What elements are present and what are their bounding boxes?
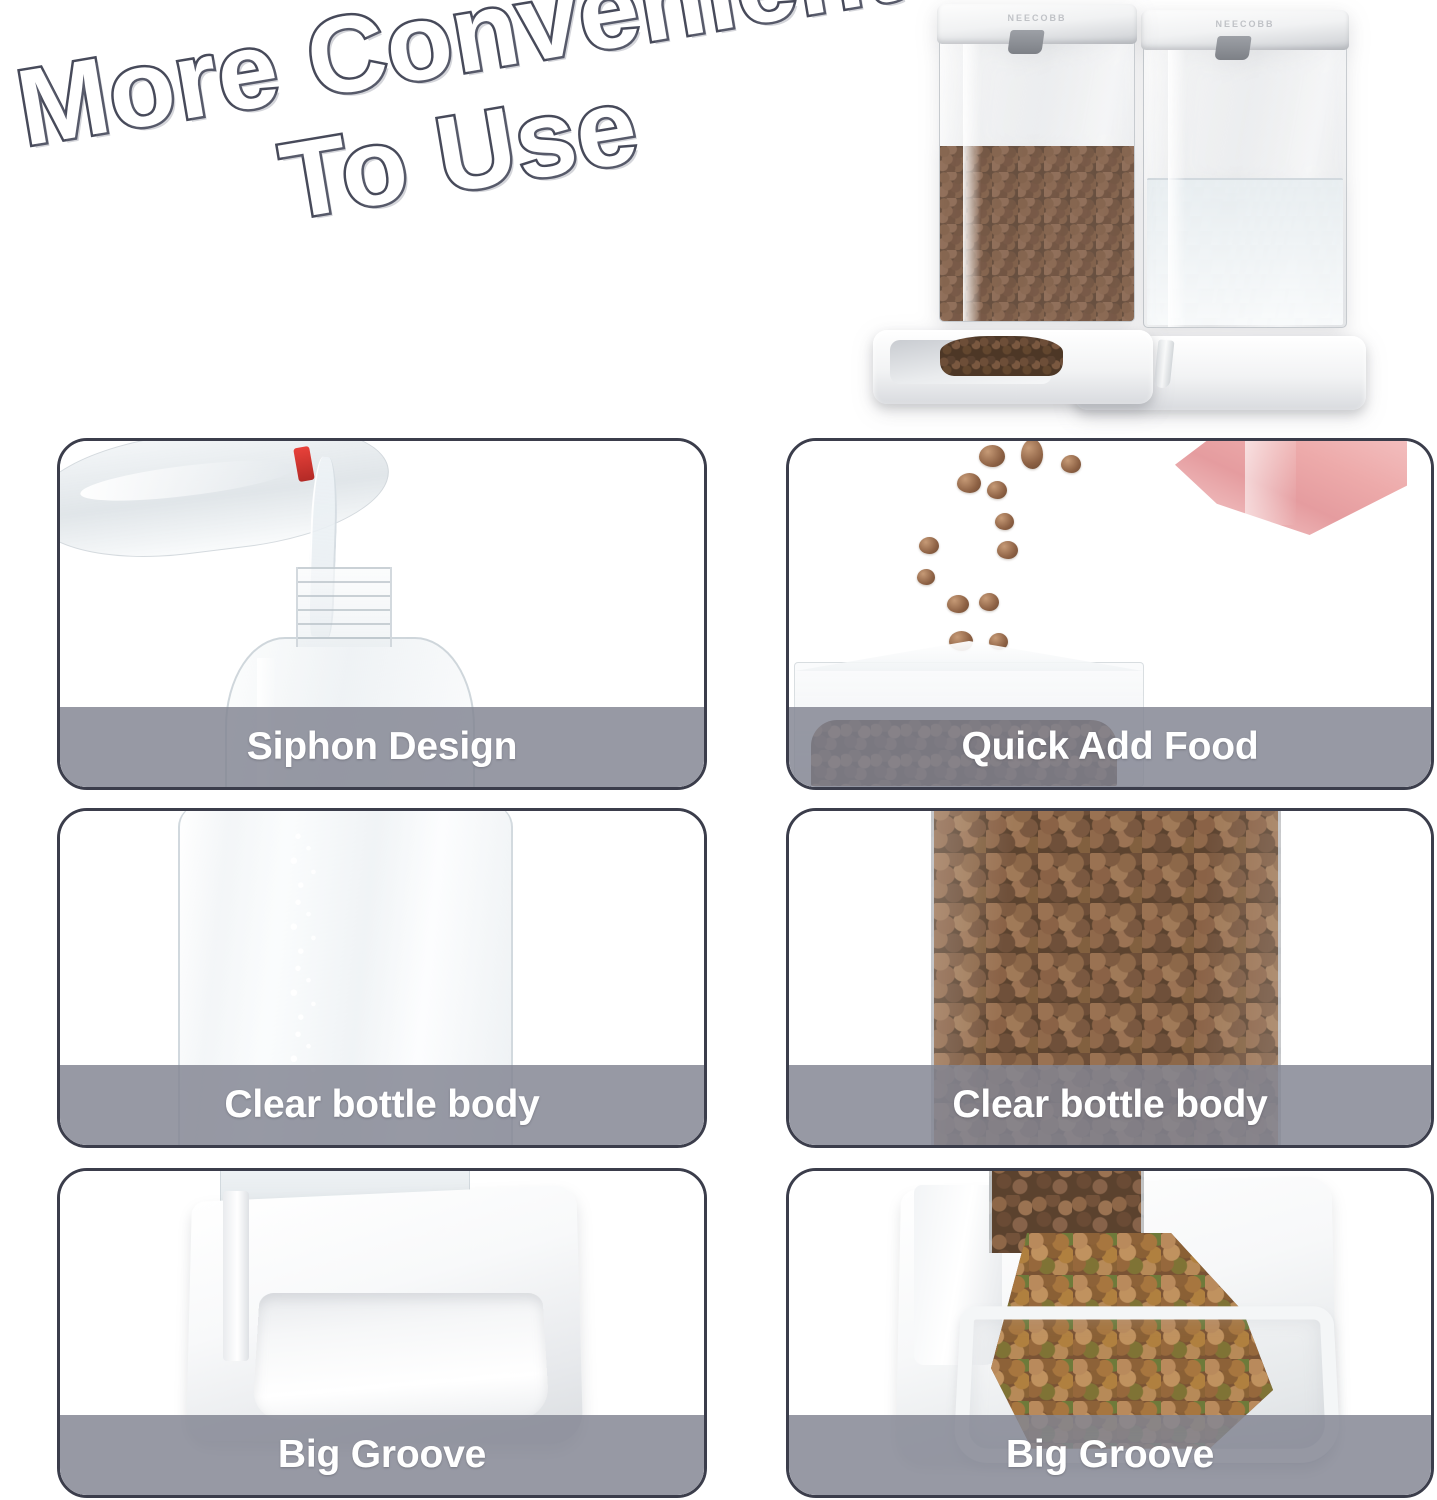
food-hopper [939,38,1135,322]
feature-card-big-groove-water: Big Groove [57,1168,707,1498]
feature-card-big-groove-food: Big Groove [786,1168,1434,1498]
hero-product-image: NEECOBB NEECOBB [911,0,1431,426]
feature-card-clear-bottle-body-food: Clear bottle body [786,808,1434,1148]
brand-logo: NEECOBB [1215,19,1274,29]
water-bubbles [270,831,340,1075]
feature-caption-label: Clear bottle body [224,1083,539,1127]
falling-kibble [997,541,1018,559]
water-dispenser-unit: NEECOBB [1141,10,1349,410]
kibble-fill [940,146,1134,321]
water-reservoir [1143,44,1347,328]
feature-caption-label: Clear bottle body [952,1083,1267,1127]
falling-kibble [995,513,1014,530]
feature-caption-label: Quick Add Food [962,725,1259,769]
pouring-bottle [60,441,396,572]
feature-grid: Siphon Design Quick Add Food [0,430,1437,1500]
water-fill [1147,178,1343,325]
tray-divider-ridge [223,1191,249,1361]
falling-kibble [917,569,935,585]
feature-card-quick-add-food: Quick Add Food [786,438,1434,790]
water-spout [1154,339,1175,388]
feature-caption-band: Clear bottle body [60,1065,704,1145]
food-dispenser-base [873,330,1153,404]
falling-kibble [1061,455,1081,473]
feature-card-clear-bottle-body-water: Clear bottle body [57,808,707,1148]
food-dispenser-unit: NEECOBB [937,4,1137,404]
falling-kibble [957,473,981,493]
pink-food-bag [1175,441,1407,535]
feature-card-siphon-design: Siphon Design [57,438,707,790]
lid-latch-icon [1007,30,1044,54]
falling-kibble [947,595,969,613]
kibble-pile [940,336,1063,376]
feature-caption-band: Quick Add Food [789,707,1431,787]
page-title-line-1: More Convenient [10,0,916,164]
page-title: More Convenient To Use [10,0,949,361]
tray-groove [252,1293,550,1420]
brand-logo: NEECOBB [1007,13,1066,23]
falling-kibble [987,481,1007,499]
falling-kibble [979,445,1005,467]
falling-kibble [979,593,999,611]
feature-caption-label: Big Groove [1006,1433,1214,1477]
feature-caption-label: Siphon Design [247,725,517,769]
page-title-line-2: To Use [274,21,935,237]
feature-caption-band: Big Groove [60,1415,704,1495]
falling-kibble [1021,441,1043,469]
bottle-neck-threads [296,567,392,647]
falling-kibble [919,537,939,554]
feature-caption-band: Clear bottle body [789,1065,1431,1145]
lid-latch-icon [1214,36,1251,60]
feature-caption-band: Big Groove [789,1415,1431,1495]
feature-caption-band: Siphon Design [60,707,704,787]
feature-caption-label: Big Groove [278,1433,486,1477]
